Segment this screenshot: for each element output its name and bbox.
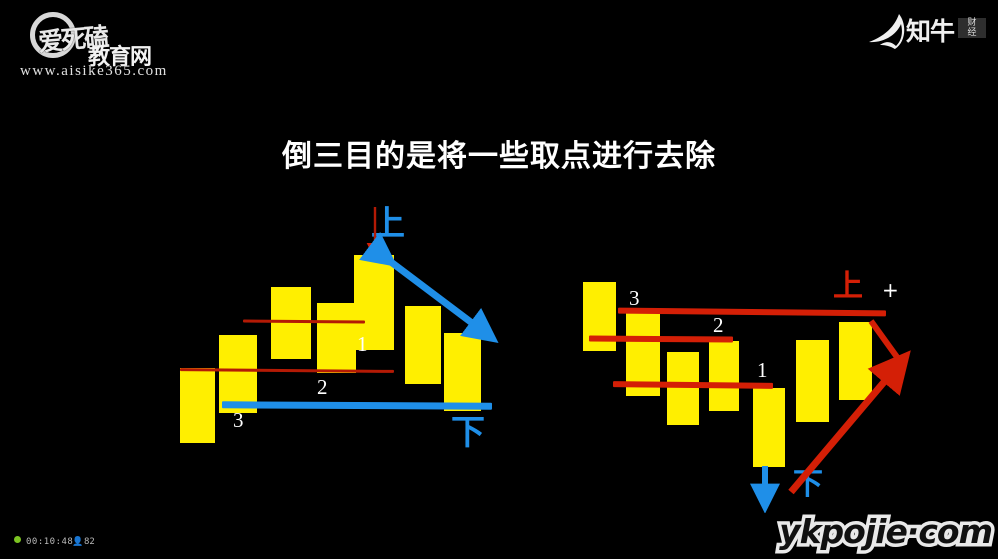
candle-bar	[753, 388, 785, 467]
live-status-dot-icon	[14, 536, 21, 543]
candle-bar	[444, 333, 481, 411]
person-icon: 👤	[72, 537, 83, 547]
red-trend-line	[589, 335, 733, 342]
brand-website-url: www.aisike365.com	[20, 63, 168, 80]
candle-bar	[709, 341, 739, 411]
elapsed-time: 00:10:48	[26, 537, 73, 547]
point-label-3: 3	[629, 286, 640, 311]
swoosh-icon	[866, 12, 908, 50]
candle-bar	[839, 322, 872, 400]
up-annotation: 上	[371, 207, 405, 241]
candle-bar	[317, 303, 356, 373]
candle-bar	[796, 340, 829, 422]
brand-name-suffix: 财 经	[958, 18, 986, 40]
down-annotation: 下	[451, 416, 485, 450]
point-label-1: 1	[357, 332, 368, 357]
point-label-2: 2	[713, 313, 724, 338]
blue-baseline	[222, 401, 492, 409]
red-down-right-arrow	[871, 321, 902, 364]
down-annotation: 下	[793, 470, 823, 500]
brand-suffix-line1: 财	[958, 18, 986, 28]
brand-name-text: 知牛	[906, 12, 954, 48]
point-label-2: 2	[317, 375, 328, 400]
viewer-count: 82	[84, 537, 95, 547]
video-frame: 爱死磕 教育网 www.aisike365.com 知牛 财 经 倒三目的是将一…	[0, 0, 998, 559]
candle-bar	[667, 352, 699, 425]
up-annotation: 上	[833, 272, 863, 302]
brand-logo-right: 知牛 财 经	[862, 8, 990, 54]
site-watermark: ykpojie·com	[779, 512, 992, 551]
brand-suffix-line2: 经	[958, 28, 986, 38]
candle-bar	[180, 368, 215, 443]
candle-bar	[405, 306, 441, 384]
page-title: 倒三目的是将一些取点进行去除	[0, 131, 998, 175]
brand-logo-left: 爱死磕 教育网 www.aisike365.com	[14, 8, 204, 78]
point-label-3: 3	[233, 408, 244, 433]
plus-marker: +	[882, 278, 899, 302]
point-label-1: 1	[757, 358, 768, 383]
red-trend-line	[243, 319, 365, 323]
